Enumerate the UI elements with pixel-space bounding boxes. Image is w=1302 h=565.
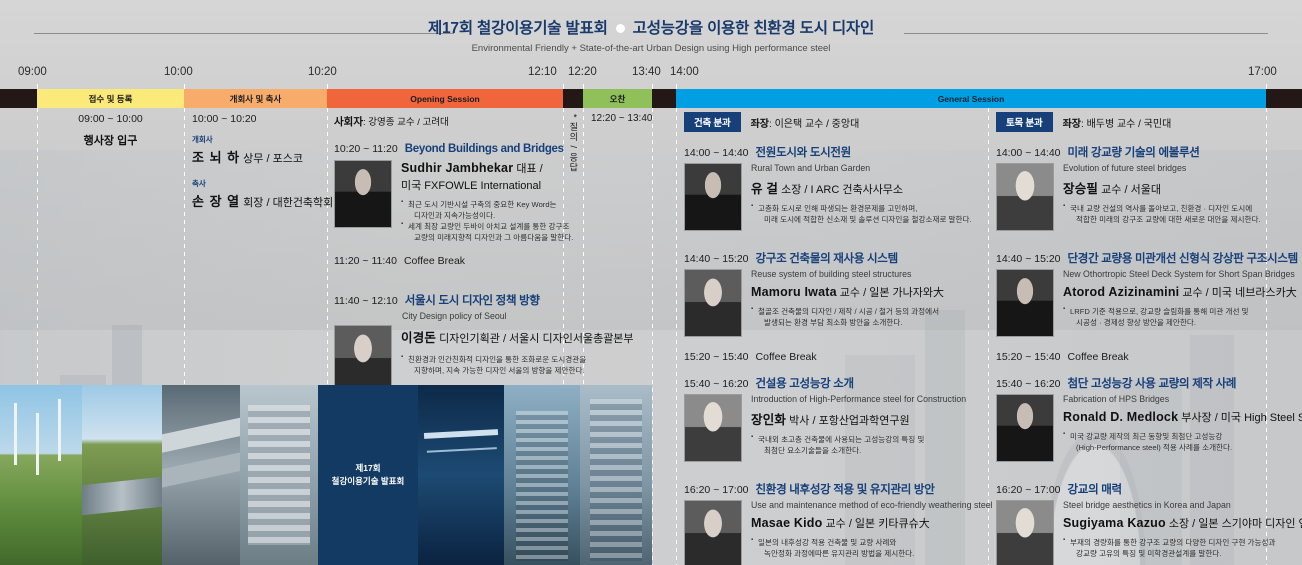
- talk-bullets: 국내외 초고층 건축물에 사용되는 고성능강의 특징 및 최첨단 요소기술들을 …: [751, 434, 966, 456]
- talk-time: 15:40 ~ 16:20: [996, 378, 1061, 390]
- talk-title-en: Steel bridge aesthetics in Korea and Jap…: [1063, 500, 1302, 510]
- speaker-line: 이경돈 디자인기획관 / 서울시 디자인서울총괄본부: [401, 327, 634, 346]
- bullet-cont: 발생되는 환경 부담 최소화 방안을 소개한다.: [751, 317, 944, 328]
- speaker-role: 소장 / 일본 스기야마 디자인 연구소: [1166, 518, 1302, 530]
- axis-tick-1700: 17:00: [1248, 66, 1277, 78]
- column-registration: 09:00 ~ 10:00 행사장 입구: [37, 108, 184, 148]
- photo-wind-turbines: [0, 385, 82, 565]
- photo-glass-tower: [504, 385, 580, 565]
- speaker-role: 교수 / 일본 가나자와大: [837, 287, 944, 299]
- column-divider: [676, 108, 677, 565]
- talk-title-en: City Design policy of Seoul: [402, 311, 562, 321]
- speaker-org: 미국 FXFOWLE International: [401, 177, 573, 193]
- speaker-photo: [996, 163, 1054, 231]
- talk-title-ko: 미래 강교량 기술의 에볼루션: [1068, 144, 1200, 160]
- speaker-role: 소장 / I ARC 건축사사무소: [778, 184, 903, 196]
- poster-header: 제17회 철강이용기술 발표회고성능강을 이용한 친환경 도시 디자인 Envi…: [0, 16, 1302, 62]
- talk-time: 14:00 ~ 14:40: [684, 147, 749, 159]
- speaker-role: 디자인기획관 / 서울시 디자인서울총괄본부: [436, 333, 633, 345]
- registration-place: 행사장 입구: [37, 132, 184, 148]
- talk-card[interactable]: 10:20 ~ 11:20 Beyond Buildings and Bridg…: [334, 143, 562, 243]
- photo-banner-line2: 철강이용기술 발표회: [332, 475, 405, 488]
- page-title: 제17회 철강이용기술 발표회고성능강을 이용한 친환경 도시 디자인 Envi…: [0, 16, 1302, 54]
- photo-street-scene: [240, 385, 318, 565]
- axis-tick-1400: 14:00: [670, 66, 699, 78]
- bullet-cont: 디자인과 지속가능성이다.: [401, 210, 573, 221]
- chair-value: : 이은택 교수 / 중앙대: [769, 119, 859, 130]
- speaker-name: 이경돈: [401, 331, 436, 345]
- bullet-cont: (High-Performance steel) 적용 사례를 소개한다.: [1063, 442, 1302, 453]
- speaker-line: Mamoru Iwata 교수 / 일본 가나자와大: [751, 284, 944, 300]
- talk-title-ko: 첨단 고성능강 사용 교량의 제작 사례: [1068, 375, 1237, 391]
- column-divider: [988, 108, 989, 565]
- axis-tick-1210: 12:10: [528, 66, 557, 78]
- column-opening-session: 사회자: 강영종 교수 / 고려대 10:20 ~ 11:20 Beyond B…: [334, 108, 562, 393]
- speaker-name: 손 장 열: [192, 194, 240, 209]
- talk-title: Coffee Break: [756, 351, 817, 363]
- talk-card[interactable]: 16:20 ~ 17:00 친환경 내후성강 적용 및 유지관리 방안 Use …: [684, 481, 986, 565]
- moderator-value: : 강영종 교수 / 고려대: [363, 117, 449, 128]
- track-header: 토목 분과 좌장: 배두병 교수 / 국민대: [996, 112, 1302, 132]
- opening-session-moderator: 사회자: 강영종 교수 / 고려대: [334, 112, 562, 130]
- speaker-role: 대표 /: [513, 163, 542, 175]
- talk-title-ko: 서울시 도시 디자인 정책 방향: [405, 292, 540, 308]
- talk-bullets: 최근 도시 기반시설 구축의 중요한 Key Word는 디자인과 지속가능성이…: [401, 199, 573, 243]
- photo-banner-text: 제17회 철강이용기술 발표회: [332, 462, 405, 488]
- speaker-role: 교수 / 서울대: [1098, 184, 1161, 196]
- schedule-band: 접수 및 등록 개회사 및 축사 Opening Session 오찬 Gene…: [0, 89, 1302, 108]
- speaker-title-org: 상무 / 포스코: [240, 153, 303, 165]
- speaker-photo: [334, 325, 392, 393]
- talk-card[interactable]: 11:40 ~ 12:10 서울시 도시 디자인 정책 방향 City Desi…: [334, 292, 562, 393]
- talk-bullets: 친환경과 인간친화적 디자인을 통한 조화로운 도시경관을 지향하며, 지속 가…: [401, 354, 634, 376]
- axis-tick-1220: 12:20: [568, 66, 597, 78]
- band-segment-opening-remarks[interactable]: 개회사 및 축사: [184, 89, 327, 108]
- bullet-cont: 시공성 · 경제성 향상 방안을 제안한다.: [1063, 317, 1297, 328]
- bullet: 부재의 경량화를 통한 강구조 교량의 다양한 디자인 구현 가능성과: [1063, 537, 1302, 548]
- speaker-line: 유 걸 소장 / I ARC 건축사사무소: [751, 178, 972, 197]
- talk-bullets: 일본의 내후성강 적용 건축물 및 교량 사례와 녹안정화 과정에따른 유지관리…: [751, 537, 993, 559]
- coffee-break-row: 15:20 ~ 15:40 Coffee Break: [996, 351, 1302, 363]
- talk-time: 14:40 ~ 15:20: [996, 253, 1061, 265]
- talk-time: 15:20 ~ 15:40: [996, 351, 1061, 363]
- photo-steel-sculpture: [162, 385, 240, 565]
- speaker-photo: [996, 500, 1054, 565]
- talk-title-en: Use and maintenance method of eco-friend…: [751, 500, 993, 510]
- talk-time: 11:40 ~ 12:10: [334, 295, 398, 307]
- speaker-photo: [684, 269, 742, 337]
- talk-bullets: 미국 강교량 제작의 최근 동향및 최첨단 고성능강 (High-Perform…: [1063, 431, 1302, 453]
- track-header: 건축 분과 좌장: 이은택 교수 / 중앙대: [684, 112, 986, 132]
- bullet-cont: 지향하며, 지속 가능한 디자인 서울의 방향을 제안한다.: [401, 365, 634, 376]
- talk-title: Coffee Break: [404, 255, 465, 267]
- speaker-role: 부사장 / 미국 High Steel Structures, Inc.: [1178, 412, 1302, 424]
- talk-title-ko: 단경간 교량용 미관개선 신형식 강상판 구조시스템: [1068, 250, 1298, 266]
- band-segment-opening-session[interactable]: Opening Session: [327, 89, 563, 108]
- speaker-name: Mamoru Iwata: [751, 285, 837, 299]
- band-segment-registration[interactable]: 접수 및 등록: [37, 89, 184, 108]
- speaker-photo: [684, 163, 742, 231]
- chair-value: : 배두병 교수 / 국민대: [1081, 119, 1171, 130]
- column-divider: [652, 108, 653, 565]
- bullet-cont: 녹안정화 과정에따른 유지관리 방법을 제시한다.: [751, 548, 993, 559]
- speaker-photo: [684, 500, 742, 565]
- bullet: LRFD 기준 적용으로, 강교량 슬림화를 통해 미관 개선 및: [1063, 306, 1297, 317]
- speaker-role: 교수 / 미국 네브라스카大: [1179, 287, 1296, 299]
- column-track-civil: 토목 분과 좌장: 배두병 교수 / 국민대 14:00 ~ 14:40 미래 …: [996, 108, 1302, 565]
- talk-card[interactable]: 14:00 ~ 14:40 전원도시와 도시전원 Rural Town and …: [684, 144, 986, 231]
- track-badge-civil: 토목 분과: [996, 112, 1053, 132]
- bullet: 미국 강교량 제작의 최근 동향및 최첨단 고성능강: [1063, 431, 1302, 442]
- title-main-row: 제17회 철강이용기술 발표회고성능강을 이용한 친환경 도시 디자인: [0, 16, 1302, 38]
- speaker-line: Masae Kido 교수 / 일본 키타큐슈大: [751, 515, 993, 531]
- photo-banner-label: 제17회 철강이용기술 발표회: [318, 385, 418, 565]
- band-segment-general-session[interactable]: General Session: [676, 89, 1266, 108]
- opening-remarks-item-0: 개회사 조 뇌 하 상무 / 포스코: [192, 134, 324, 167]
- role-label: 축사: [192, 178, 324, 189]
- title-right: 고성능강을 이용한 친환경 도시 디자인: [633, 20, 874, 37]
- talk-title-en: Introduction of High-Performance steel f…: [751, 394, 966, 404]
- talk-title-ko: 친환경 내후성강 적용 및 유지관리 방안: [756, 481, 935, 497]
- talk-title-en: Reuse system of building steel structure…: [751, 269, 944, 279]
- talk-title-ko: Beyond Buildings and Bridges: [405, 143, 564, 155]
- track-badge-architecture: 건축 분과: [684, 112, 741, 132]
- bullet-cont: 적합한 미래의 강구조 교량에 대한 새로운 대안을 제시한다.: [1063, 214, 1261, 225]
- speaker-name: 장인화: [751, 413, 786, 427]
- band-segment-lunch[interactable]: 오찬: [583, 89, 652, 108]
- talk-title-ko: 강구조 건축물의 재사용 시스템: [756, 250, 898, 266]
- axis-tick-0900: 09:00: [18, 66, 47, 78]
- speaker-role: 박사 / 포항산업과학연구원: [786, 415, 910, 427]
- talk-time: 16:20 ~ 17:00: [684, 484, 749, 496]
- talk-title-en: New Othortropic Steel Deck System for Sh…: [1063, 269, 1297, 279]
- talk-bullets: 철골조 건축물의 디자인 / 제작 / 시공 / 철거 등의 과정에서 발생되는…: [751, 306, 944, 328]
- chair-label: 좌장: [751, 119, 769, 130]
- speaker-name: Ronald D. Medlock: [1063, 410, 1178, 424]
- talk-card[interactable]: 14:40 ~ 15:20 강구조 건축물의 재사용 시스템 Reuse sys…: [684, 250, 986, 337]
- talk-title-en: Fabrication of HPS Bridges: [1063, 394, 1302, 404]
- role-label: 개회사: [192, 134, 324, 145]
- bullet: 국내외 초고층 건축물에 사용되는 고성능강의 특징 및: [751, 434, 966, 445]
- talk-title-en: Evolution of future steel bridges: [1063, 163, 1261, 173]
- talk-time: 10:20 ~ 11:20: [334, 143, 398, 155]
- speaker-line: Sugiyama Kazuo 소장 / 일본 스기야마 디자인 연구소: [1063, 515, 1302, 531]
- talk-title-ko: 건설용 고성능강 소개: [756, 375, 854, 391]
- speaker-photo: [996, 394, 1054, 462]
- bullet-cont: 최첨단 요소기술들을 소개한다.: [751, 445, 966, 456]
- talk-card[interactable]: 14:00 ~ 14:40 미래 강교량 기술의 에볼루션 Evolution …: [996, 144, 1302, 231]
- bullet-cont: 강교량 고유의 특징 및 미학경관설계를 말한다.: [1063, 548, 1302, 559]
- speaker-name: Sugiyama Kazuo: [1063, 516, 1166, 530]
- bullet: 친환경과 인간친화적 디자인을 통한 조화로운 도시경관을: [401, 354, 634, 365]
- speaker-name: 장승필: [1063, 182, 1098, 196]
- speaker-name: 조 뇌 하: [192, 150, 240, 165]
- bullet-cont: 교량의 미래지향적 디자인과 그 아름다움을 말한다.: [401, 232, 573, 243]
- bullet: 철골조 건축물의 디자인 / 제작 / 시공 / 철거 등의 과정에서: [751, 306, 944, 317]
- talk-time: 14:00 ~ 14:40: [996, 147, 1061, 159]
- speaker-line: 손 장 열 회장 / 대한건축학회: [192, 191, 324, 211]
- speaker-name: Sudhir Jambhekar: [401, 161, 513, 175]
- title-left: 제17회 철강이용기술 발표회: [428, 20, 608, 37]
- poster-root: 제17회 철강이용기술 발표회고성능강을 이용한 친환경 도시 디자인 Envi…: [0, 0, 1302, 565]
- talk-bullets: LRFD 기준 적용으로, 강교량 슬림화를 통해 미관 개선 및 시공성 · …: [1063, 306, 1297, 328]
- chair-line: 좌장: 이은택 교수 / 중앙대: [751, 115, 860, 130]
- axis-tick-1340: 13:40: [632, 66, 661, 78]
- speaker-line: 조 뇌 하 상무 / 포스코: [192, 147, 324, 167]
- bullet-dot-icon: [616, 24, 625, 33]
- speaker-title-org: 회장 / 대한건축학회: [240, 197, 333, 209]
- talk-title-en: Rural Town and Urban Garden: [751, 163, 972, 173]
- photo-highrise: [580, 385, 652, 565]
- talk-card[interactable]: 16:20 ~ 17:00 강교의 매력 Steel bridge aesthe…: [996, 481, 1302, 565]
- coffee-break-row: 11:20 ~ 11:40 Coffee Break: [334, 255, 562, 267]
- lunch-time: 12:20 ~ 13:40: [591, 113, 652, 124]
- qna-vertical-label: * 질의 / 응답: [567, 114, 578, 173]
- speaker-line: 장승필 교수 / 서울대: [1063, 178, 1261, 197]
- talk-time: 15:40 ~ 16:20: [684, 378, 749, 390]
- coffee-break-row: 15:20 ~ 15:40 Coffee Break: [684, 351, 986, 363]
- talk-title: Coffee Break: [1068, 351, 1129, 363]
- title-subtitle: Environmental Friendly + State-of-the-ar…: [0, 43, 1302, 54]
- axis-tick-1020: 10:20: [308, 66, 337, 78]
- bullet: 고층화 도시로 인해 파생되는 환경문제를 고민하며,: [751, 203, 972, 214]
- opening-remarks-item-1: 축사 손 장 열 회장 / 대한건축학회: [192, 178, 324, 211]
- speaker-photo: [334, 160, 392, 228]
- speaker-photo: [684, 394, 742, 462]
- talk-card[interactable]: 14:40 ~ 15:20 단경간 교량용 미관개선 신형식 강상판 구조시스템…: [996, 250, 1302, 337]
- speaker-line: 장인화 박사 / 포항산업과학연구원: [751, 409, 966, 428]
- column-opening-remarks: 10:00 ~ 10:20 개회사 조 뇌 하 상무 / 포스코 축사 손 장 …: [192, 108, 324, 211]
- photo-strip: 제17회 철강이용기술 발표회: [0, 385, 652, 565]
- chair-label: 좌장: [1063, 119, 1081, 130]
- talk-card[interactable]: 15:40 ~ 16:20 건설용 고성능강 소개 Introduction o…: [684, 375, 986, 462]
- talk-time: 16:20 ~ 17:00: [996, 484, 1061, 496]
- talk-title-ko: 강교의 매력: [1068, 481, 1122, 497]
- photo-cable-bridge: [418, 385, 504, 565]
- photo-green-field: [82, 385, 162, 565]
- speaker-line: Ronald D. Medlock 부사장 / 미국 High Steel St…: [1063, 409, 1302, 425]
- speaker-name: Masae Kido: [751, 516, 822, 530]
- talk-time: 15:20 ~ 15:40: [684, 351, 749, 363]
- time-axis: 09:00 10:00 10:20 12:10 12:20 13:40 14:0…: [0, 66, 1302, 88]
- column-track-architecture: 건축 분과 좌장: 이은택 교수 / 중앙대 14:00 ~ 14:40 전원도…: [684, 108, 986, 565]
- speaker-name: Atorod Azizinamini: [1063, 285, 1179, 299]
- talk-card[interactable]: 15:40 ~ 16:20 첨단 고성능강 사용 교량의 제작 사례 Fabri…: [996, 375, 1302, 462]
- speaker-line: Atorod Azizinamini 교수 / 미국 네브라스카大: [1063, 284, 1297, 300]
- bullet-cont: 미래 도시에 적합한 신소재 및 솔루션 디자인을 철강소재로 말한다.: [751, 214, 972, 225]
- bullet: 세계 최장 교량인 두바이 아치교 설계를 통한 강구조: [401, 221, 573, 232]
- moderator-label: 사회자: [334, 116, 363, 128]
- speaker-name: 유 걸: [751, 182, 778, 196]
- column-lunch: 12:20 ~ 13:40: [591, 108, 652, 124]
- talk-time: 11:20 ~ 11:40: [334, 255, 397, 267]
- talk-title-ko: 전원도시와 도시전원: [756, 144, 851, 160]
- talk-bullets: 부재의 경량화를 통한 강구조 교량의 다양한 디자인 구현 가능성과 강교량 …: [1063, 537, 1302, 559]
- bullet: 국내 교량 건설의 역사를 돌아보고, 친환경 · 디자인 도시에: [1063, 203, 1261, 214]
- bullet: 일본의 내후성강 적용 건축물 및 교량 사례와: [751, 537, 993, 548]
- talk-bullets: 고층화 도시로 인해 파생되는 환경문제를 고민하며, 미래 도시에 적합한 신…: [751, 203, 972, 225]
- speaker-role: 교수 / 일본 키타큐슈大: [822, 518, 929, 530]
- talk-time: 14:40 ~ 15:20: [684, 253, 749, 265]
- photo-banner-line1: 제17회: [332, 462, 405, 475]
- speaker-photo: [996, 269, 1054, 337]
- bullet: 최근 도시 기반시설 구축의 중요한 Key Word는: [401, 199, 573, 210]
- axis-tick-1000: 10:00: [164, 66, 193, 78]
- opening-remarks-time: 10:00 ~ 10:20: [192, 113, 324, 125]
- talk-bullets: 국내 교량 건설의 역사를 돌아보고, 친환경 · 디자인 도시에 적합한 미래…: [1063, 203, 1261, 225]
- registration-time: 09:00 ~ 10:00: [37, 113, 184, 125]
- chair-line: 좌장: 배두병 교수 / 국민대: [1063, 115, 1172, 130]
- speaker-line: Sudhir Jambhekar 대표 /: [401, 160, 573, 176]
